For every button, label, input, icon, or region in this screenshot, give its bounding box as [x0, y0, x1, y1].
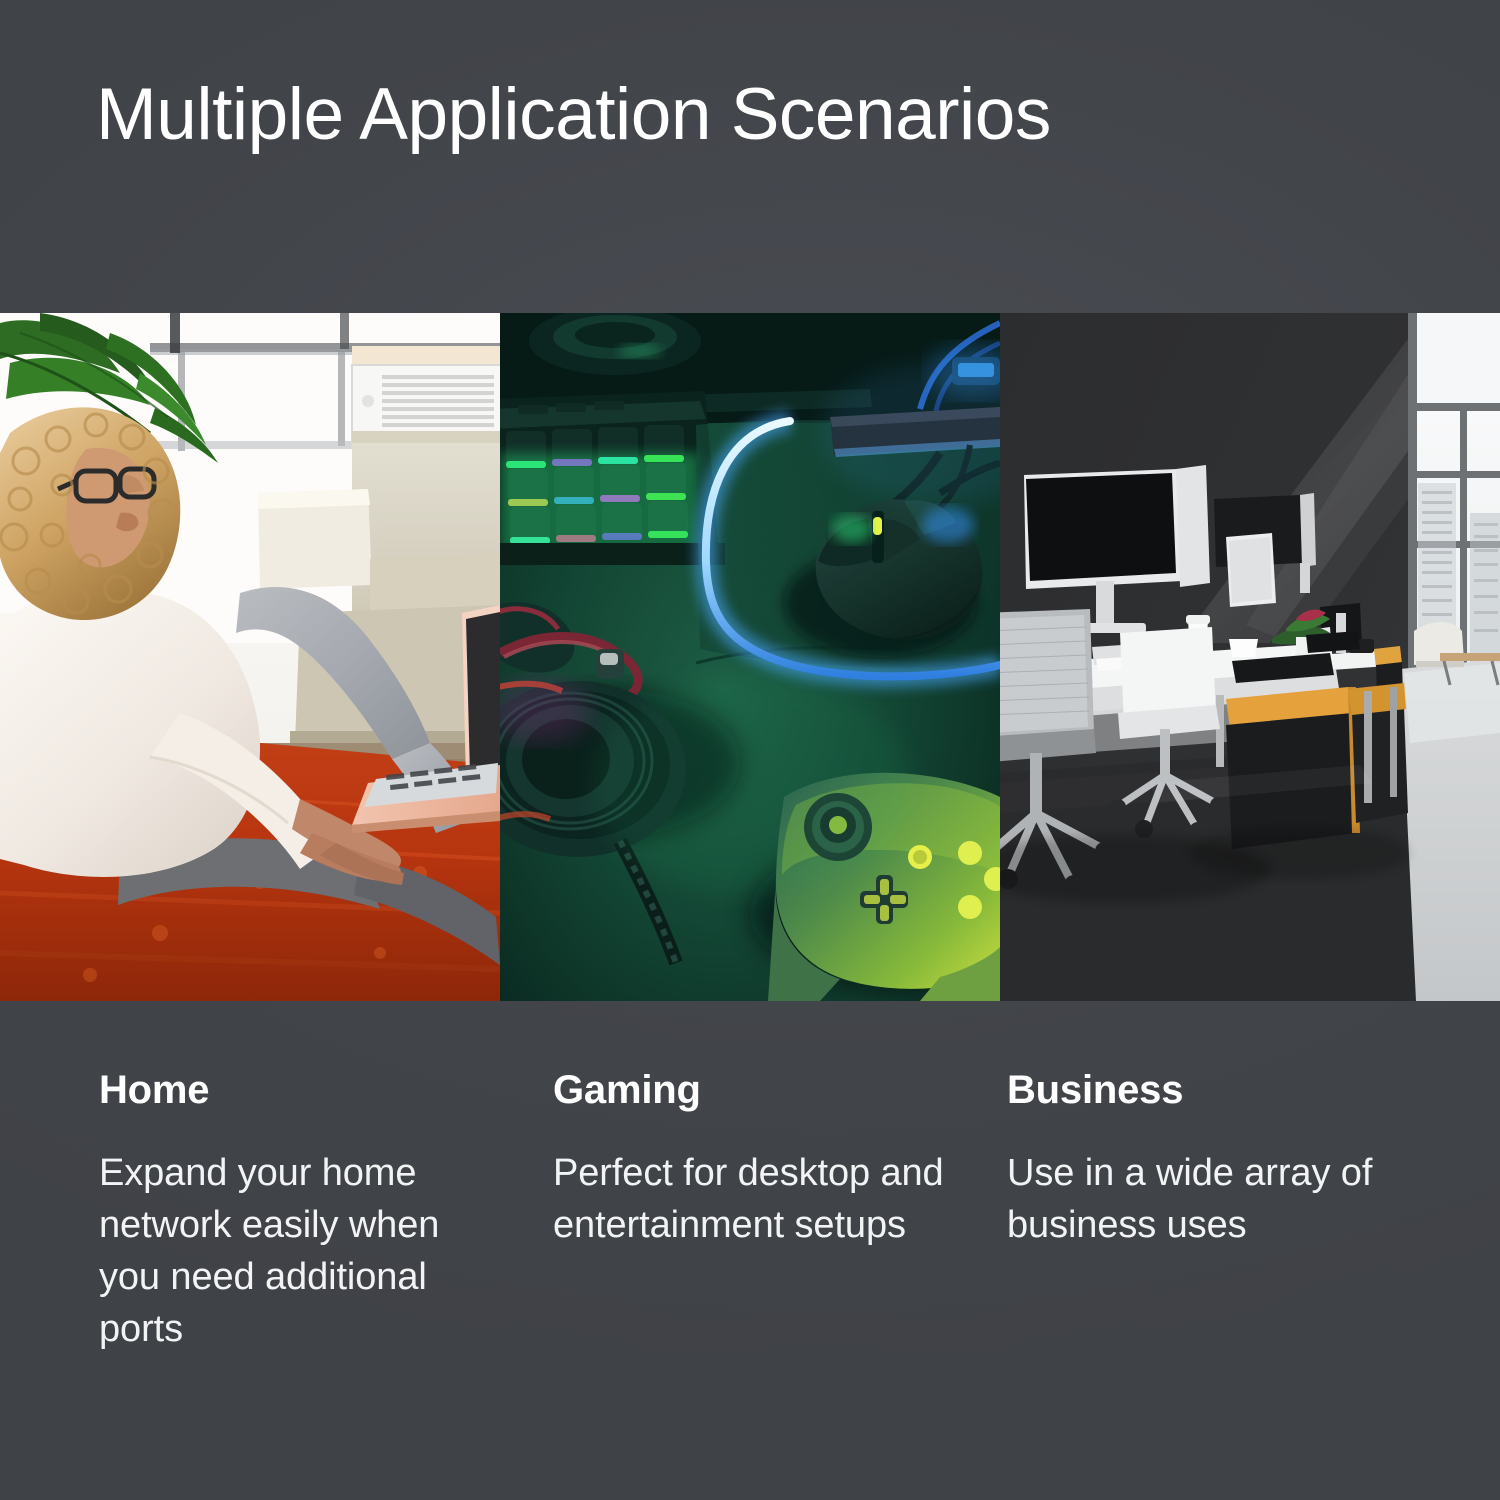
home-scene-illustration [0, 313, 500, 1001]
page-title: Multiple Application Scenarios [96, 75, 1051, 155]
caption-body-gaming: Perfect for desktop and entertainment se… [553, 1147, 953, 1251]
caption-heading-gaming: Gaming [553, 1069, 953, 1111]
caption-column-business: Business Use in a wide array of business… [1007, 1069, 1407, 1251]
caption-body-business: Use in a wide array of business uses [1007, 1147, 1407, 1251]
scenario-image-strip [0, 313, 1500, 1001]
caption-heading-business: Business [1007, 1069, 1407, 1111]
title-section: Multiple Application Scenarios [0, 0, 1500, 313]
caption-column-home: Home Expand your home network easily whe… [99, 1069, 499, 1355]
caption-body-home: Expand your home network easily when you… [99, 1147, 499, 1355]
application-scenarios-page: Multiple Application Scenarios [0, 0, 1500, 1500]
scenario-image-business [1000, 313, 1500, 1001]
scenario-image-gaming [500, 313, 1000, 1001]
business-scene-illustration [1000, 313, 1500, 1001]
scenario-captions: Home Expand your home network easily whe… [0, 1001, 1500, 1500]
caption-heading-home: Home [99, 1069, 499, 1111]
gaming-scene-illustration [500, 313, 1000, 1001]
caption-column-gaming: Gaming Perfect for desktop and entertain… [553, 1069, 953, 1251]
scenario-image-home [0, 313, 500, 1001]
